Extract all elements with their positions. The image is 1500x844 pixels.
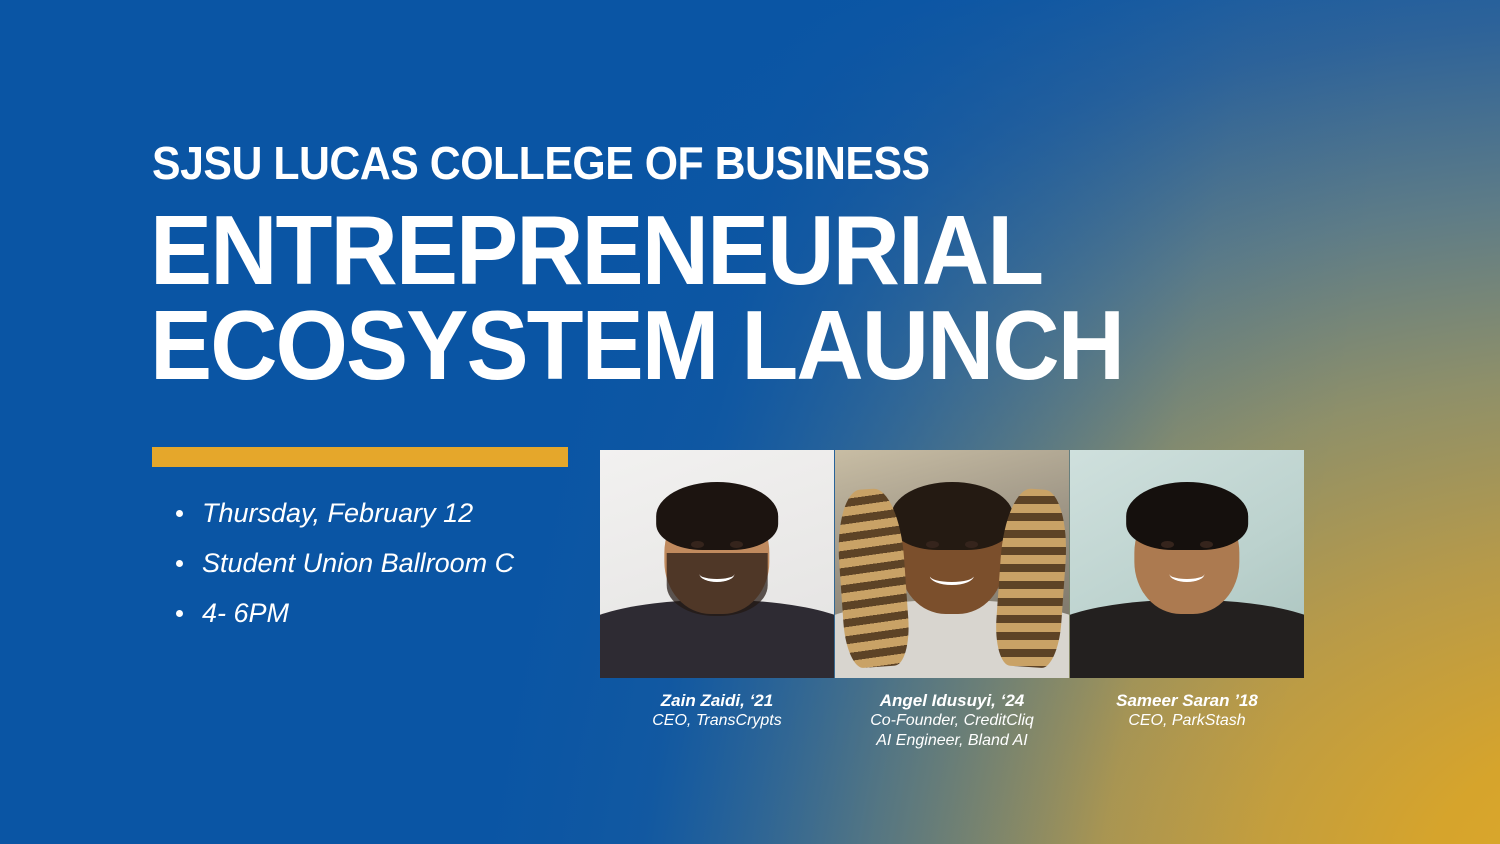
speaker-caption: Zain Zaidi, ‘21 CEO, TransCrypts — [600, 691, 834, 731]
speaker-photo — [835, 450, 1069, 678]
flyer-content: SJSU LUCAS COLLEGE OF BUSINESS ENTREPREN… — [0, 0, 1500, 844]
speaker-caption: Sameer Saran ’18 CEO, ParkStash — [1070, 691, 1304, 731]
detail-item-location: Student Union Ballroom C — [168, 550, 514, 577]
speaker-name: Zain Zaidi, ‘21 — [600, 691, 834, 711]
speaker-name: Angel Idusuyi, ‘24 — [835, 691, 1069, 711]
gold-accent-bar — [152, 447, 568, 467]
speaker-name: Sameer Saran ’18 — [1070, 691, 1304, 711]
portrait-zain-zaidi-icon — [600, 450, 834, 678]
speaker-caption: Angel Idusuyi, ‘24 Co-Founder, CreditCli… — [835, 691, 1069, 750]
event-flyer: SJSU LUCAS COLLEGE OF BUSINESS ENTREPREN… — [0, 0, 1500, 844]
speaker-role-line-1: CEO, TransCrypts — [600, 711, 834, 731]
speaker-photo — [1070, 450, 1304, 678]
headline-line-2: ECOSYSTEM LAUNCH — [150, 298, 1123, 393]
portrait-sameer-saran-icon — [1070, 450, 1304, 678]
speaker-card: Angel Idusuyi, ‘24 Co-Founder, CreditCli… — [835, 450, 1069, 750]
portrait-angel-idusuyi-icon — [835, 450, 1069, 678]
eyebrow-text: SJSU LUCAS COLLEGE OF BUSINESS — [152, 140, 930, 186]
speaker-role-line-2: AI Engineer, Bland AI — [835, 731, 1069, 751]
speaker-gallery: Zain Zaidi, ‘21 CEO, TransCrypts — [600, 450, 1306, 750]
detail-item-time: 4- 6PM — [168, 600, 514, 627]
detail-item-date: Thursday, February 12 — [168, 500, 514, 527]
speaker-role-line-1: CEO, ParkStash — [1070, 711, 1304, 731]
speaker-card: Sameer Saran ’18 CEO, ParkStash — [1070, 450, 1304, 750]
speaker-role-line-1: Co-Founder, CreditCliq — [835, 711, 1069, 731]
event-details-list: Thursday, February 12 Student Union Ball… — [168, 500, 514, 650]
headline-line-1: ENTREPRENEURIAL — [150, 203, 1123, 298]
speaker-photo — [600, 450, 834, 678]
speaker-card: Zain Zaidi, ‘21 CEO, TransCrypts — [600, 450, 834, 750]
page-title: ENTREPRENEURIAL ECOSYSTEM LAUNCH — [150, 203, 1123, 393]
